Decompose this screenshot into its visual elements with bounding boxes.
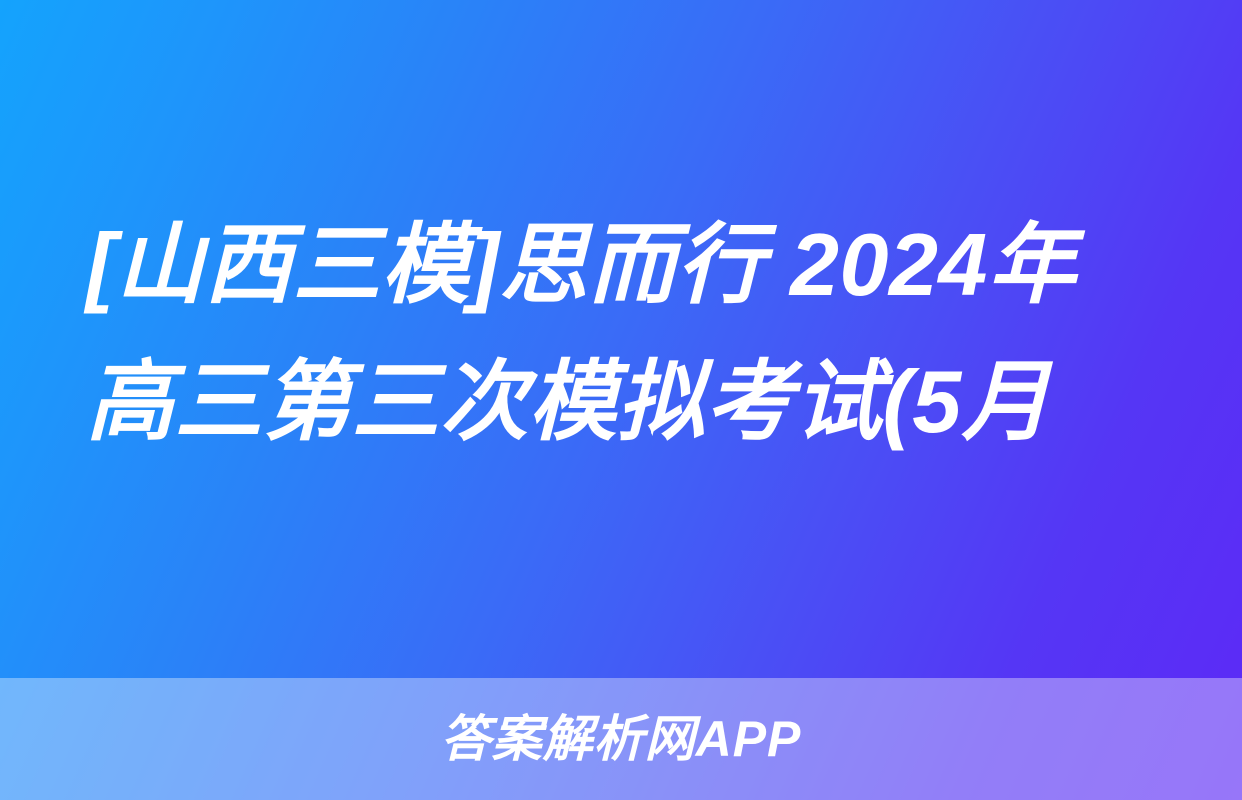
exam-cover-banner: [山西三模]思而行 2024年高三第三次模拟考试(5月 答案解析网APP <box>0 0 1242 800</box>
page-title: [山西三模]思而行 2024年高三第三次模拟考试(5月 <box>86 196 1158 471</box>
watermark-label: 答案解析网APP <box>441 714 802 764</box>
banner-title-container: [山西三模]思而行 2024年高三第三次模拟考试(5月 <box>0 0 1242 678</box>
watermark-band: 答案解析网APP <box>0 678 1242 800</box>
